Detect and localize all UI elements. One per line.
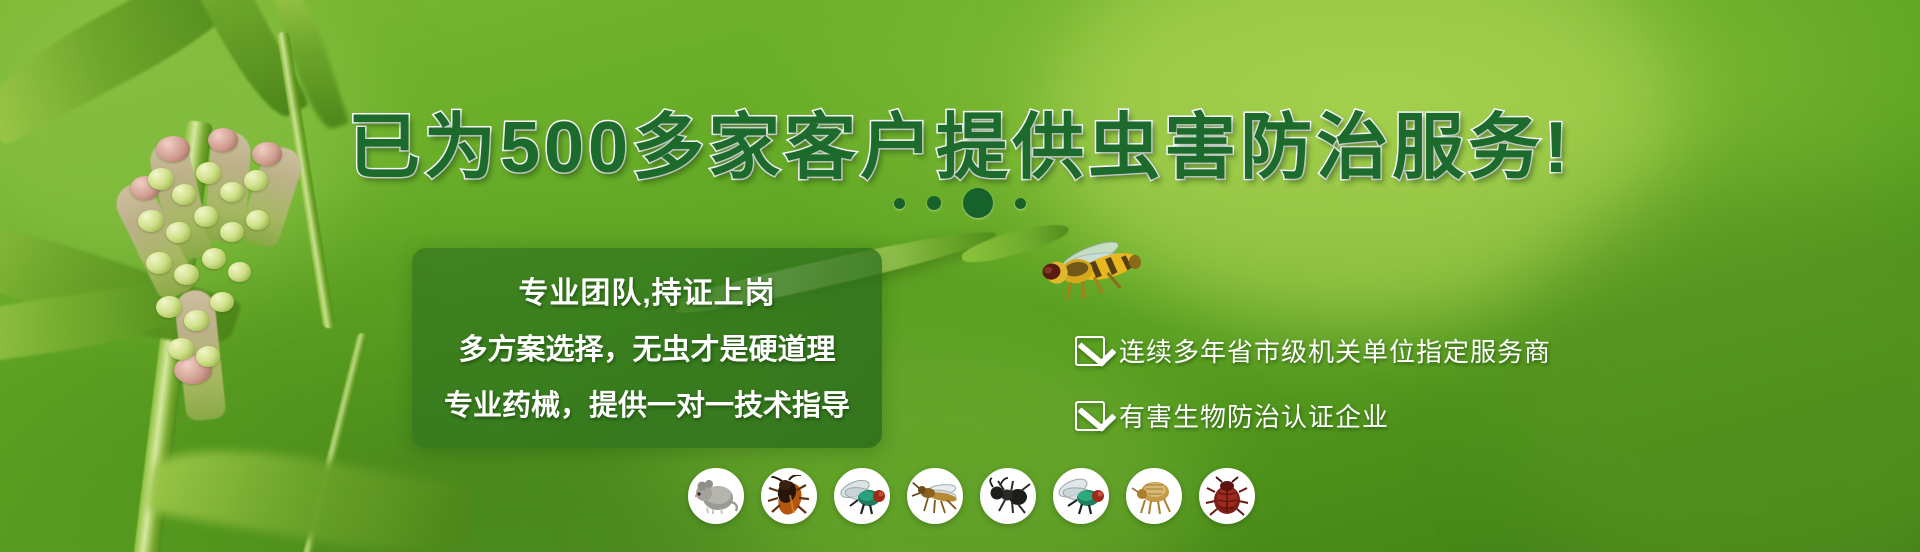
decor-dot-3	[963, 188, 993, 218]
hoverfly-photo	[1031, 232, 1159, 310]
selling-point-line-1: 专业团队,持证上岗	[412, 268, 882, 312]
selling-point-line-3: 专业药械，提供一对一技术指导	[412, 382, 882, 424]
feature-label: 连续多年省市级机关单位指定服务商	[1119, 332, 1551, 369]
decor-dot-1	[894, 198, 905, 209]
decor-dot-4	[1015, 198, 1026, 209]
pest-icon-ant[interactable]	[980, 468, 1036, 524]
check-square-icon	[1075, 336, 1105, 366]
flea-icon	[1131, 476, 1177, 516]
pest-icon-mosquito[interactable]	[907, 468, 963, 524]
check-square-icon	[1075, 401, 1105, 431]
feature-item: 有害生物防治认证企业	[1075, 397, 1551, 434]
pest-icon-mouse[interactable]	[688, 468, 744, 524]
pest-icon-bedbug[interactable]	[1199, 468, 1255, 524]
pest-icon-row	[688, 468, 1255, 524]
plant-leaf	[146, 432, 470, 552]
pest-icon-fly[interactable]	[834, 468, 890, 524]
selling-point-line-2: 多方案选择，无虫才是硬道理	[412, 326, 882, 368]
decorative-dots	[0, 188, 1920, 218]
fly-icon	[838, 476, 886, 516]
pest-icon-cockroach[interactable]	[761, 468, 817, 524]
page-title-text: 已为500多家客户提供虫害防治服务!	[348, 108, 1572, 188]
pest-icon-blowfly[interactable]	[1053, 468, 1109, 524]
feature-label: 有害生物防治认证企业	[1119, 397, 1389, 434]
page-title: 已为500多家客户提供虫害防治服务!	[0, 88, 1920, 193]
background-bokeh-2	[1500, 180, 1920, 552]
blowfly-icon	[1057, 476, 1105, 516]
cockroach-icon	[766, 475, 812, 517]
ant-icon	[985, 476, 1031, 516]
pest-icon-flea[interactable]	[1126, 468, 1182, 524]
feature-list: 连续多年省市级机关单位指定服务商 有害生物防治认证企业	[1075, 332, 1551, 434]
decor-dot-2	[927, 196, 941, 210]
bedbug-icon	[1204, 475, 1250, 517]
feature-item: 连续多年省市级机关单位指定服务商	[1075, 332, 1551, 369]
pest-control-banner: 已为500多家客户提供虫害防治服务! 专业团队,持证上岗 多方案选择，无虫才是硬…	[0, 0, 1920, 552]
plant-photo	[0, 0, 470, 552]
mosquito-icon	[911, 476, 959, 516]
mouse-icon	[693, 476, 739, 516]
selling-points-panel: 专业团队,持证上岗 多方案选择，无虫才是硬道理 专业药械，提供一对一技术指导	[412, 248, 882, 448]
